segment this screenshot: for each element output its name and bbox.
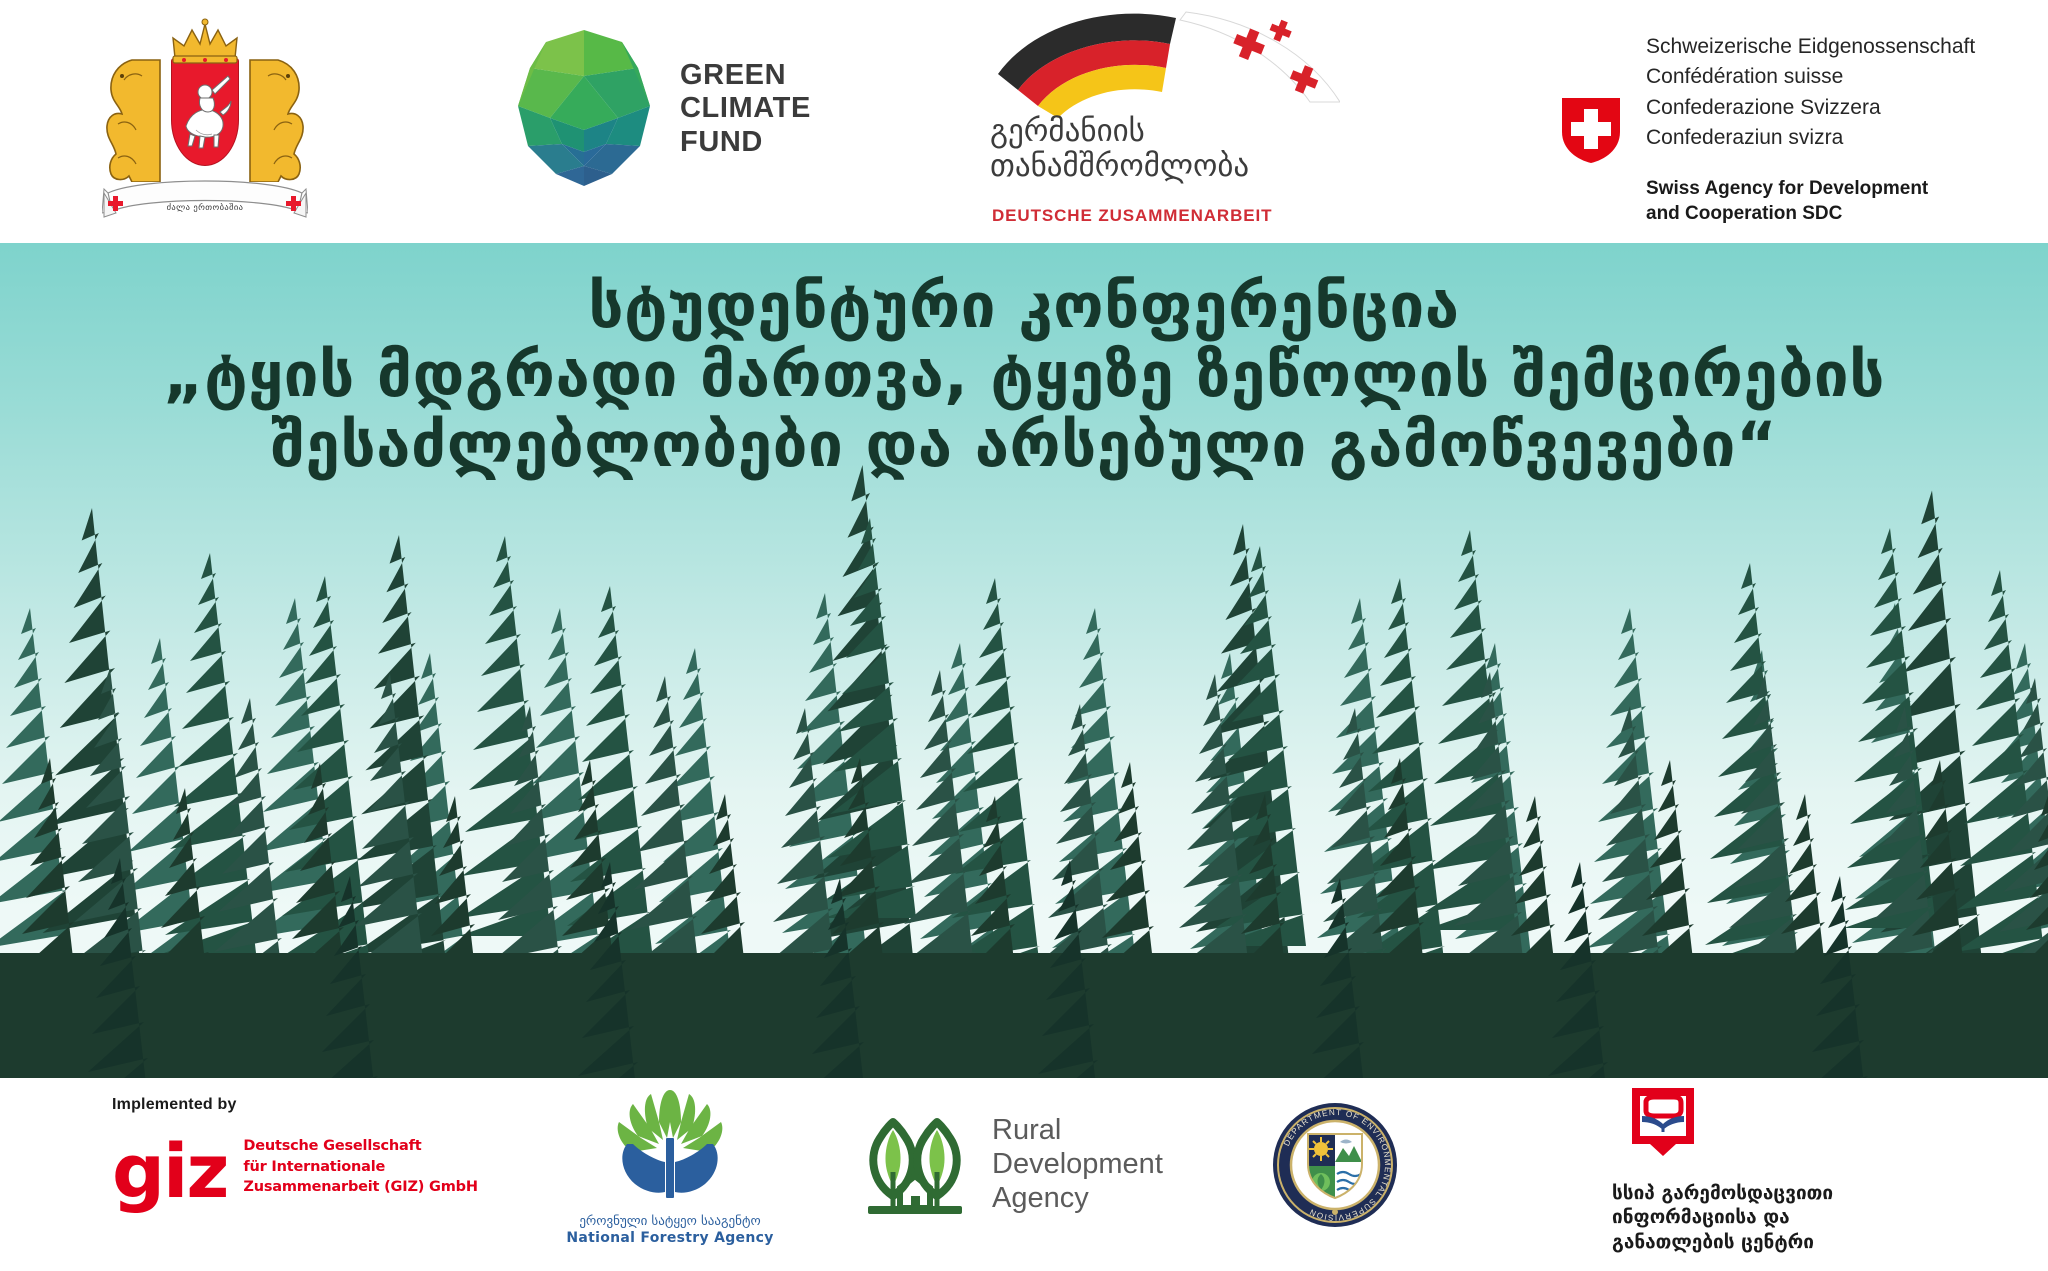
eic-line-1: სსიპ გარემოსდაცვითი [1612, 1181, 1942, 1205]
tree-circle-icon [611, 1088, 729, 1206]
giz-full-name: Deutsche Gesellschaft für Internationale… [243, 1136, 477, 1198]
rural-development-agency-logo: Rural Development Agency [860, 1110, 1163, 1218]
environmental-supervision-logo: DEPARTMENT OF ENVIRONMENTAL SUPERVISION [1270, 1100, 1400, 1230]
bottom-logo-strip: Implemented by giz Deutsche Gesellschaft… [0, 1078, 2048, 1271]
giz-logo: Implemented by giz Deutsche Gesellschaft… [112, 1096, 478, 1202]
top-logo-strip: ძალა ერთობაშია [0, 0, 2048, 243]
sdc-line-1: Swiss Agency for Development [1646, 176, 1975, 202]
gcf-line-2: CLIMATE [680, 92, 811, 125]
giz-name-line-1: Deutsche Gesellschaft [243, 1136, 477, 1157]
swiss-cross-shield-icon [1560, 96, 1622, 164]
green-climate-fund-logo: GREEN CLIMATE FUND [510, 28, 811, 190]
swiss-line-2: Confédération suisse [1646, 62, 1975, 92]
lion-supporter-icon [102, 54, 164, 182]
swiss-line-4: Confederaziun svizra [1646, 123, 1975, 153]
georgia-coat-of-arms-logo: ძალა ერთობაშია [90, 10, 320, 235]
nfa-english-name: National Forestry Agency [545, 1230, 795, 1246]
swiss-line-3: Confederazione Svizzera [1646, 93, 1975, 123]
german-cooperation-german-name: DEUTSCHE ZUSAMMENARBEIT [992, 206, 1272, 226]
saint-george-horse-icon [176, 70, 234, 152]
gcf-line-3: FUND [680, 126, 811, 159]
forest-silhouette-illustration [0, 458, 2048, 1078]
giz-name-line-3: Zusammenarbeit (GIZ) GmbH [243, 1177, 477, 1198]
rda-line-1: Rural [992, 1113, 1163, 1147]
german-coop-geo-line-2: თანამშრომლობა [990, 149, 1290, 184]
coat-of-arms-motto: ძალა ერთობაშია [130, 203, 280, 213]
sdc-line-2: and Cooperation SDC [1646, 201, 1975, 227]
gcf-globe-icon [510, 28, 658, 190]
implemented-by-label: Implemented by [112, 1096, 478, 1114]
nfa-georgian-name: ეროვნული სატყეო სააგენტო [545, 1214, 795, 1229]
open-book-shield-icon [1630, 1086, 1696, 1166]
rda-line-2: Development [992, 1147, 1163, 1181]
conference-banner: სტუდენტური კონფერენცია „ტყის მდგრადი მარ… [0, 243, 2048, 1078]
giz-name-line-2: für Internationale [243, 1157, 477, 1178]
title-line-3: შესაძლებლობები და არსებული გამოწვევები“ [0, 410, 2048, 479]
lion-supporter-icon [246, 54, 308, 182]
department-environmental-supervision-seal-icon: DEPARTMENT OF ENVIRONMENTAL SUPERVISION [1270, 1100, 1400, 1230]
giz-wordmark: giz [112, 1144, 227, 1202]
swiss-line-1: Schweizerische Eidgenossenschaft [1646, 32, 1975, 62]
swiss-confederation-logo: Schweizerische Eidgenossenschaft Confédé… [1560, 32, 1975, 227]
rda-wordmark: Rural Development Agency [992, 1113, 1163, 1216]
motto-ribbon-icon [102, 171, 308, 227]
eic-line-2: ინფორმაციისა და [1612, 1205, 1942, 1229]
german-flag-swoosh-icon [990, 10, 1340, 120]
title-line-2: „ტყის მდგრადი მართვა, ტყეზე ზეწოლის შემც… [0, 340, 2048, 409]
gcf-line-1: GREEN [680, 59, 811, 92]
gcf-wordmark: GREEN CLIMATE FUND [680, 59, 811, 158]
conference-poster: ძალა ერთობაშია [0, 0, 2048, 1271]
title-line-1: სტუდენტური კონფერენცია [0, 271, 2048, 340]
eic-name: სსიპ გარემოსდაცვითი ინფორმაციისა და განა… [1612, 1181, 1942, 1254]
rda-line-3: Agency [992, 1181, 1163, 1215]
env-info-center-logo: სსიპ გარემოსდაცვითი ინფორმაციისა და განა… [1612, 1086, 1942, 1254]
page-title: სტუდენტური კონფერენცია „ტყის მდგრადი მარ… [0, 243, 2048, 479]
eic-line-3: განათლების ცენტრი [1612, 1230, 1942, 1254]
national-forestry-agency-logo: ეროვნული სატყეო სააგენტო National Forest… [545, 1088, 795, 1246]
crown-icon [167, 18, 243, 64]
german-cooperation-georgian-name: გერმანიის თანამშრომლობა [990, 114, 1290, 185]
german-coop-geo-line-1: გერმანიის [990, 114, 1290, 149]
two-trees-house-icon [860, 1110, 970, 1218]
